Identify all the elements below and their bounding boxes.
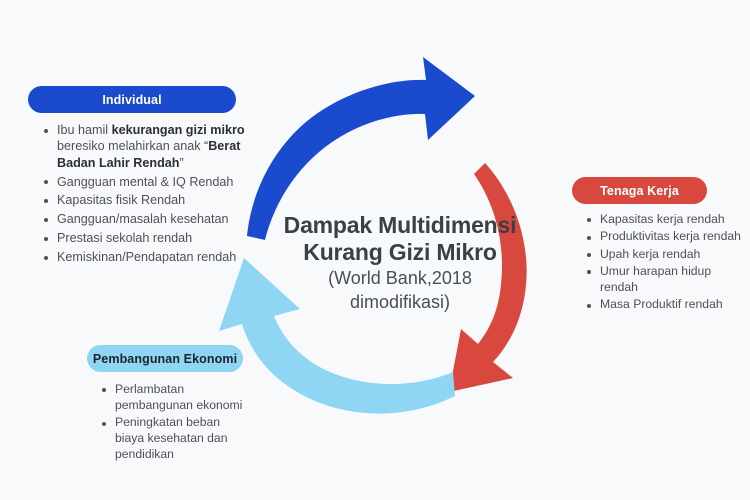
list-item: Prestasi sekolah rendah [42, 230, 247, 246]
badge-individual-label: Individual [102, 93, 161, 107]
list-item: Kapasitas kerja rendah [585, 212, 745, 228]
list-item: Ibu hamil kekurangan gizi mikro beresiko… [42, 122, 247, 171]
badge-tenaga-kerja[interactable]: Tenaga Kerja [572, 177, 707, 204]
list-item: Masa Produktif rendah [585, 297, 745, 313]
badge-pembangunan-ekonomi[interactable]: Pembangunan Ekonomi [87, 345, 243, 372]
list-item: Gangguan mental & IQ Rendah [42, 174, 247, 190]
list-individual: Ibu hamil kekurangan gizi mikro beresiko… [42, 122, 247, 268]
list-item: Umur harapan hidup rendah [585, 264, 745, 296]
center-title-line-2: Kurang Gizi Mikro [250, 239, 550, 266]
list-pembangunan-ekonomi: Perlambatan pembangunan ekonomiPeningkat… [100, 382, 250, 464]
list-tenaga-kerja: Kapasitas kerja rendahProduktivitas kerj… [585, 212, 745, 315]
center-source-line-2: dimodifikasi) [250, 292, 550, 314]
list-item: Kemiskinan/Pendapatan rendah [42, 249, 247, 265]
center-source-line-1: (World Bank,2018 [250, 268, 550, 290]
center-title-block: Dampak Multidimensi Kurang Gizi Mikro (W… [250, 212, 550, 314]
badge-individual[interactable]: Individual [28, 86, 236, 113]
list-item: Perlambatan pembangunan ekonomi [100, 382, 250, 414]
list-item: Peningkatan beban biaya kesehatan dan pe… [100, 415, 250, 463]
badge-pembangunan-ekonomi-label: Pembangunan Ekonomi [93, 352, 237, 366]
list-item: Produktivitas kerja rendah [585, 229, 745, 245]
list-item: Kapasitas fisik Rendah [42, 192, 247, 208]
list-item: Gangguan/masalah kesehatan [42, 211, 247, 227]
center-title-line-1: Dampak Multidimensi [250, 212, 550, 239]
badge-tenaga-kerja-label: Tenaga Kerja [600, 184, 679, 198]
infographic-canvas: Individual Ibu hamil kekurangan gizi mik… [0, 0, 750, 500]
list-item: Upah kerja rendah [585, 247, 745, 263]
